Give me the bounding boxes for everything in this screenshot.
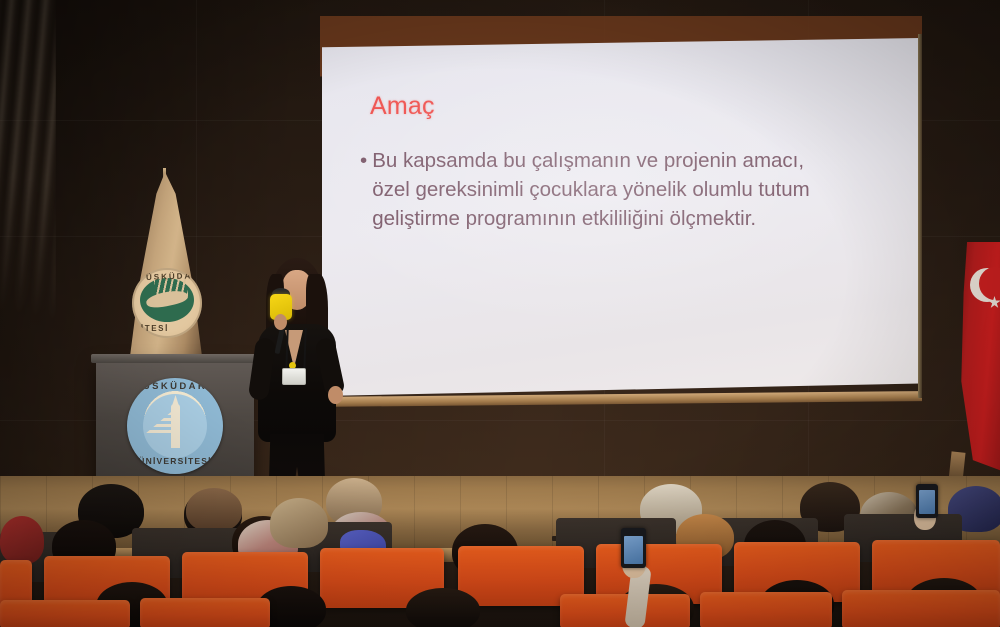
podium-logo-tower-icon xyxy=(171,404,180,448)
slide-title: Amaç xyxy=(370,92,435,121)
banner-logo-text-bottom: SİTESİ xyxy=(134,324,169,333)
projected-slide-surface: Amaç • Bu kapsamda bu çalışmanın ve proj… xyxy=(322,38,920,396)
bullet-text: Bu kapsamda bu çalışmanın ve projenin am… xyxy=(372,146,810,233)
audience-seat xyxy=(140,598,270,627)
flag-crescent-icon xyxy=(970,268,1000,302)
stage-curtain xyxy=(0,0,56,326)
smartphone-screen[interactable] xyxy=(919,490,935,514)
audience-seat xyxy=(0,600,130,627)
banner-logo-ring: ÜSKÜDAR SİTESİ xyxy=(132,268,202,338)
projection-screen: Amaç • Bu kapsamda bu çalışmanın ve proj… xyxy=(320,16,922,394)
audience-seat xyxy=(700,592,832,627)
podium-university-logo: ÜSKÜDAR ÜNİVERSİTESİ xyxy=(127,378,223,474)
slide-bullet: • Bu kapsamda bu çalışmanın ve projenin … xyxy=(360,146,880,233)
presenter-id-badge xyxy=(282,368,306,385)
audience-seat xyxy=(842,590,1000,627)
bullet-line-3: geliştirme programının etkililiğini ölçm… xyxy=(372,207,756,230)
banner-logo-text-top: ÜSKÜDAR xyxy=(146,271,200,282)
podium-logo-text-bottom: ÜNİVERSİTESİ xyxy=(127,456,223,466)
slide-content: Amaç • Bu kapsamda bu çalışmanın ve proj… xyxy=(322,38,920,396)
bullet-line-1: Bu kapsamda bu çalışmanın ve projenin am… xyxy=(372,149,804,172)
banner-logo: ÜSKÜDAR SİTESİ xyxy=(132,268,202,338)
audience-head xyxy=(406,588,480,627)
bullet-line-2: özel gereksinimli çocuklara yönelik olum… xyxy=(372,178,810,201)
audience-headscarf xyxy=(0,516,44,564)
screen-right-frame xyxy=(918,34,922,398)
audience-headscarf xyxy=(270,498,328,548)
slide-body: • Bu kapsamda bu çalışmanın ve projenin … xyxy=(360,146,880,233)
presentation-photo-scene: Amaç • Bu kapsamda bu çalışmanın ve proj… xyxy=(0,0,1000,627)
podium-logo-text-top: ÜSKÜDAR xyxy=(127,381,223,392)
presenter-left-hand xyxy=(274,314,287,330)
podium-top-surface xyxy=(91,354,259,363)
smartphone-screen[interactable] xyxy=(624,536,643,564)
bullet-marker: • xyxy=(360,146,367,175)
presenter-right-hand xyxy=(328,386,343,404)
audience-head xyxy=(186,488,242,532)
